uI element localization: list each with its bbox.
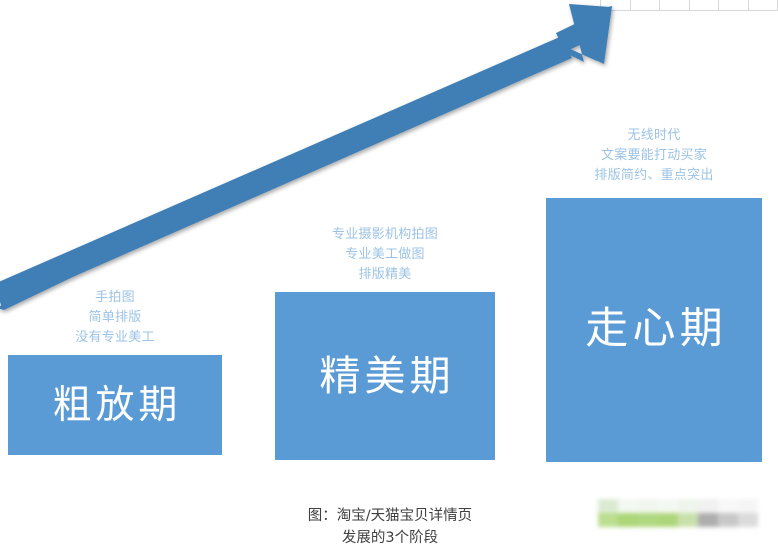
stage-bar-3: 走心期 [546,198,762,462]
figure-caption-line: 图：淘宝/天猫宝贝详情页 [265,505,515,527]
stage-bar-1: 粗放期 [8,355,222,455]
figure-caption: 图：淘宝/天猫宝贝详情页 发展的3个阶段 [265,505,515,550]
stage-3-label: 走心期 [581,308,727,351]
stage-3-desc-line: 排版简约、重点突出 [573,166,735,186]
stage-2-desc-line: 排版精美 [305,265,465,285]
stage-3-desc-line: 无线时代 [573,126,735,146]
stage-2-desc-line: 专业美工做图 [305,245,465,265]
stage-2-desc-line: 专业摄影机构拍图 [305,225,465,245]
stage-1-desc-line: 没有专业美工 [35,328,195,348]
figure-canvas: 手拍图 简单排版 没有专业美工 粗放期 专业摄影机构拍图 专业美工做图 排版精美… [0,0,778,560]
stage-3-desc-line: 文案要能打动买家 [573,146,735,166]
stage-2-description: 专业摄影机构拍图 专业美工做图 排版精美 [305,225,465,285]
stage-bar-2: 精美期 [275,292,495,460]
stage-3-description: 无线时代 文案要能打动买家 排版简约、重点突出 [573,126,735,186]
stage-2-label: 精美期 [315,356,454,397]
figure-caption-line: 发展的3个阶段 [265,527,515,549]
stage-1-description: 手拍图 简单排版 没有专业美工 [35,288,195,348]
stage-1-desc-line: 简单排版 [35,308,195,328]
stage-1-desc-line: 手拍图 [35,288,195,308]
stage-1-label: 粗放期 [49,386,182,425]
